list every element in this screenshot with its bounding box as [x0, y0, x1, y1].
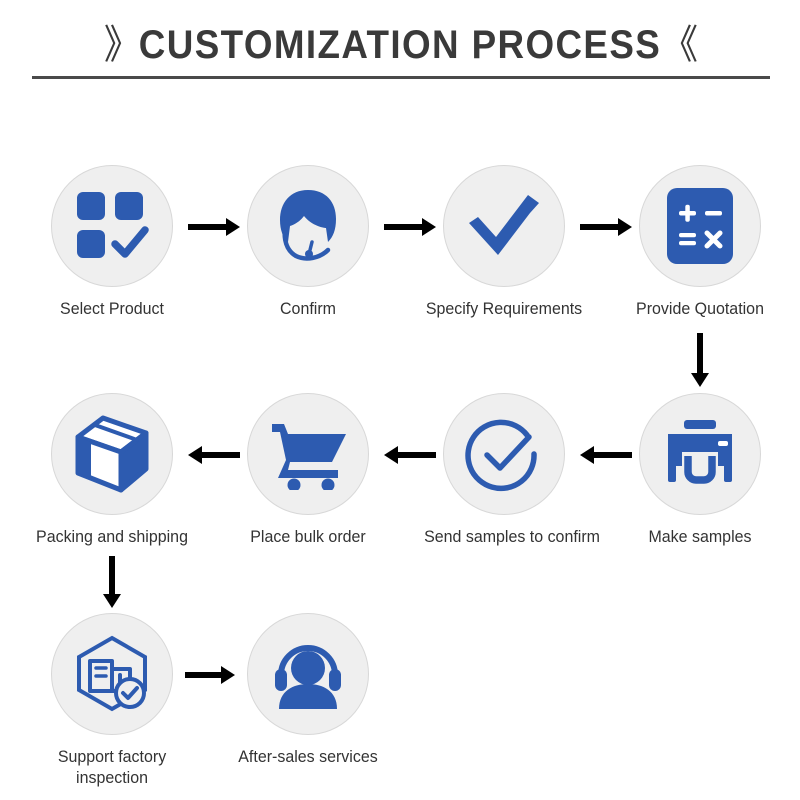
page-title: 》CUSTOMIZATION PROCESS《 — [32, 12, 768, 70]
grid-squares-check-icon — [75, 190, 149, 262]
step-label: Specify Requirements — [424, 298, 584, 319]
step-icon-circle — [51, 165, 173, 287]
step-label: Confirm — [228, 298, 388, 319]
step-node-make-samples[interactable]: Make samples — [615, 393, 785, 547]
step-icon-circle — [639, 393, 761, 515]
step-label: After-sales services — [228, 746, 388, 767]
step-label: Select Product — [32, 298, 192, 319]
connector-arrow-left-1 — [580, 443, 632, 467]
connector-arrow-right-2 — [384, 215, 436, 239]
connector-arrow-right-1 — [188, 215, 240, 239]
shopping-cart-icon — [268, 418, 348, 490]
factory-inspection-badge-icon — [72, 635, 152, 713]
infographic-canvas: 》CUSTOMIZATION PROCESS《 Select Product C… — [0, 0, 800, 800]
step-icon-circle — [443, 393, 565, 515]
step-label: Provide Quotation — [620, 298, 780, 319]
connector-arrow-right-4 — [185, 663, 235, 687]
step-icon-circle — [443, 165, 565, 287]
support-agent-headset-icon — [268, 186, 348, 266]
checkmark-icon — [466, 193, 542, 259]
calculator-icon — [667, 188, 733, 264]
step-label: Make samples — [620, 526, 780, 547]
step-node-confirm[interactable]: Confirm — [223, 165, 393, 319]
step-node-send-samples-to-confirm[interactable]: Send samples to confirm — [419, 393, 589, 547]
step-icon-circle — [247, 165, 369, 287]
circle-check-icon — [465, 415, 543, 493]
package-box-icon — [73, 415, 151, 493]
step-icon-circle — [247, 613, 369, 735]
step-icon-circle — [51, 613, 173, 735]
step-node-specify-requirements[interactable]: Specify Requirements — [419, 165, 589, 319]
step-icon-circle — [51, 393, 173, 515]
step-icon-circle — [639, 165, 761, 287]
connector-arrow-left-2 — [384, 443, 436, 467]
step-node-select-product[interactable]: Select Product — [27, 165, 197, 319]
step-label: Place bulk order — [228, 526, 388, 547]
step-node-support-factory-inspection[interactable]: Support factory inspection — [27, 613, 197, 789]
title-divider — [32, 76, 770, 79]
connector-arrow-right-3 — [580, 215, 632, 239]
connector-arrow-down-1 — [688, 333, 712, 387]
step-node-place-bulk-order[interactable]: Place bulk order — [223, 393, 393, 547]
step-node-provide-quotation[interactable]: Provide Quotation — [615, 165, 785, 319]
connector-arrow-left-3 — [188, 443, 240, 467]
chevron-right-double-icon: 》 — [104, 23, 139, 67]
step-node-packing-and-shipping[interactable]: Packing and shipping — [27, 393, 197, 547]
page-title-text: CUSTOMIZATION PROCESS — [139, 23, 661, 67]
step-label: Packing and shipping — [32, 526, 192, 547]
connector-arrow-down-2 — [100, 556, 124, 608]
step-node-after-sales-services[interactable]: After-sales services — [223, 613, 393, 767]
step-label: Support factory inspection — [32, 746, 192, 789]
printer-icon — [662, 420, 738, 488]
step-label: Send samples to confirm — [424, 526, 584, 547]
headset-person-icon — [269, 639, 347, 709]
chevron-left-double-icon: 《 — [661, 23, 696, 67]
step-icon-circle — [247, 393, 369, 515]
